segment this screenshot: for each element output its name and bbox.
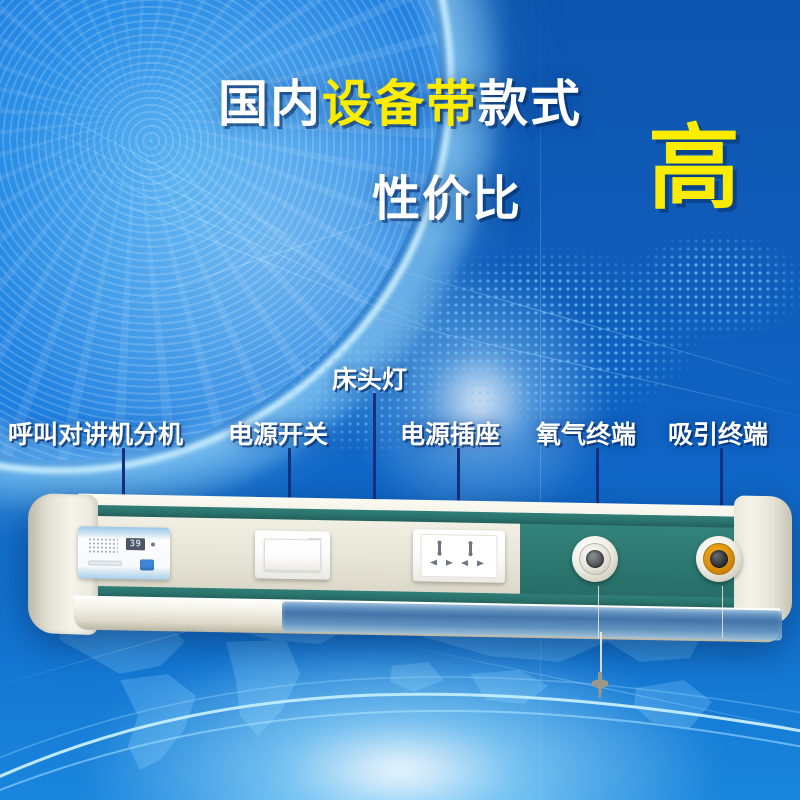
headline-part-3: 款式 [478,76,582,132]
callout-label-bed-lamp[interactable]: 床头灯 [332,360,407,396]
suction-terminal-outlet[interactable] [696,536,742,583]
headline-line-2: 性价比 高 [0,145,800,237]
callout-label-power-switch[interactable]: 电源开关 [228,415,328,451]
intercom-display: 39 [126,538,145,550]
power-switch-unit[interactable] [255,530,330,579]
panel-end-cap-right [734,495,792,624]
intercom-call-button[interactable] [140,559,154,570]
oxygen-port-icon [586,550,604,568]
callout-label-power-socket[interactable]: 电源插座 [400,415,500,451]
status-led-icon [151,542,155,546]
suction-port-icon [710,550,728,568]
socket-pinholes-icon [413,529,505,583]
callout-label-intercom[interactable]: 呼叫对讲机分机 [8,415,183,451]
headline-part-2-accent: 设备带 [322,76,478,132]
nurse-call-intercom-unit[interactable]: 39 [78,526,170,580]
headline-value-label: 性价比 [372,159,522,229]
callout-label-suction[interactable]: 吸引终端 [668,415,768,451]
speaker-grille-icon [88,537,118,555]
banner-canvas: 国内设备带款式 性价比 高 呼叫对讲机分机 电源开关 床头灯 电源插座 氧气终端… [0,0,800,800]
oxygen-terminal-outlet[interactable] [572,536,618,583]
vertical-guide-line [540,0,541,800]
power-socket-unit[interactable] [413,529,505,583]
pull-cord-handle[interactable] [592,672,608,698]
oxygen-hose-line [598,586,599,638]
headline-block: 国内设备带款式 性价比 高 [0,78,800,237]
headline-high-accent: 高 [648,123,740,215]
headline-line-1: 国内设备带款式 [0,78,800,131]
intercom-slot [88,560,122,566]
rocker-switch-icon[interactable] [264,539,321,572]
panel-stripe-top [76,505,776,529]
callout-label-oxygen[interactable]: 氧气终端 [536,415,636,451]
suction-hose-line [722,586,723,638]
headline-part-1: 国内 [218,76,322,132]
